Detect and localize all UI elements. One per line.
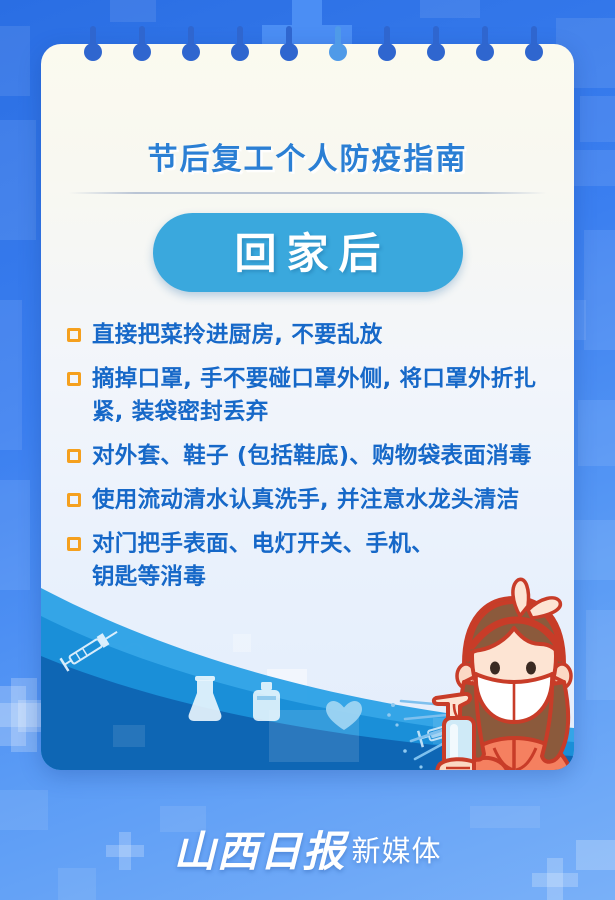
bg-block xyxy=(110,0,156,22)
section-badge-label: 回家后 xyxy=(224,229,390,278)
spray-mist-icon xyxy=(371,689,491,770)
list-item-text: 摘掉口罩, 手不要碰口罩外侧, 将口罩外折扎紧, 装袋密封丢弃 xyxy=(92,363,557,429)
card-square xyxy=(267,669,307,709)
list-item: 摘掉口罩, 手不要碰口罩外侧, 将口罩外折扎紧, 装袋密封丢弃 xyxy=(67,363,557,429)
card-square xyxy=(233,634,251,652)
list-item-text: 对外套、鞋子 (包括鞋底)、购物袋表面消毒 xyxy=(92,440,557,473)
brand-name: 山西日报 xyxy=(173,827,345,876)
list-item-text: 直接把菜拎进厨房, 不要乱放 xyxy=(92,319,557,352)
square-outline-icon xyxy=(67,537,81,551)
bg-block xyxy=(0,300,22,450)
list-item-text: 对门把手表面、电灯开关、手机、钥匙等消毒 xyxy=(92,528,444,594)
list-item: 对门把手表面、电灯开关、手机、钥匙等消毒 xyxy=(67,528,557,594)
notepad-card: 节后复工个人防疫指南 回家后 直接把菜拎进厨房, 不要乱放 摘掉口罩, 手不要碰… xyxy=(41,44,574,770)
top-tab-decoration xyxy=(0,0,615,48)
footer-logo: 山西日报新媒体 xyxy=(0,818,615,879)
guideline-list: 直接把菜拎进厨房, 不要乱放 摘掉口罩, 手不要碰口罩外侧, 将口罩外折扎紧, … xyxy=(67,319,557,605)
bg-block xyxy=(578,400,615,466)
bg-block xyxy=(584,230,615,350)
square-outline-icon xyxy=(67,449,81,463)
bg-block xyxy=(420,0,480,18)
bg-block xyxy=(580,96,615,142)
square-outline-icon xyxy=(67,328,81,342)
page-title: 节后复工个人防疫指南 xyxy=(41,134,574,178)
heart-icon xyxy=(103,642,145,680)
square-outline-icon xyxy=(67,493,81,507)
bg-block xyxy=(0,26,30,96)
square-outline-icon xyxy=(67,372,81,386)
bg-block xyxy=(0,480,30,590)
list-item: 使用流动清水认真洗手, 并注意水龙头清洁 xyxy=(67,484,557,517)
bg-block xyxy=(0,120,36,240)
brand-sub: 新媒体 xyxy=(352,834,442,868)
list-item: 直接把菜拎进厨房, 不要乱放 xyxy=(67,319,557,352)
bg-block xyxy=(586,610,615,700)
list-item: 对外套、鞋子 (包括鞋底)、购物袋表面消毒 xyxy=(67,440,557,473)
list-item-text: 使用流动清水认真洗手, 并注意水龙头清洁 xyxy=(92,484,557,517)
section-badge: 回家后 xyxy=(153,213,463,292)
bg-block xyxy=(0,686,26,746)
poster-root: 节后复工个人防疫指南 回家后 直接把菜拎进厨房, 不要乱放 摘掉口罩, 手不要碰… xyxy=(0,0,615,900)
title-divider xyxy=(69,192,546,194)
